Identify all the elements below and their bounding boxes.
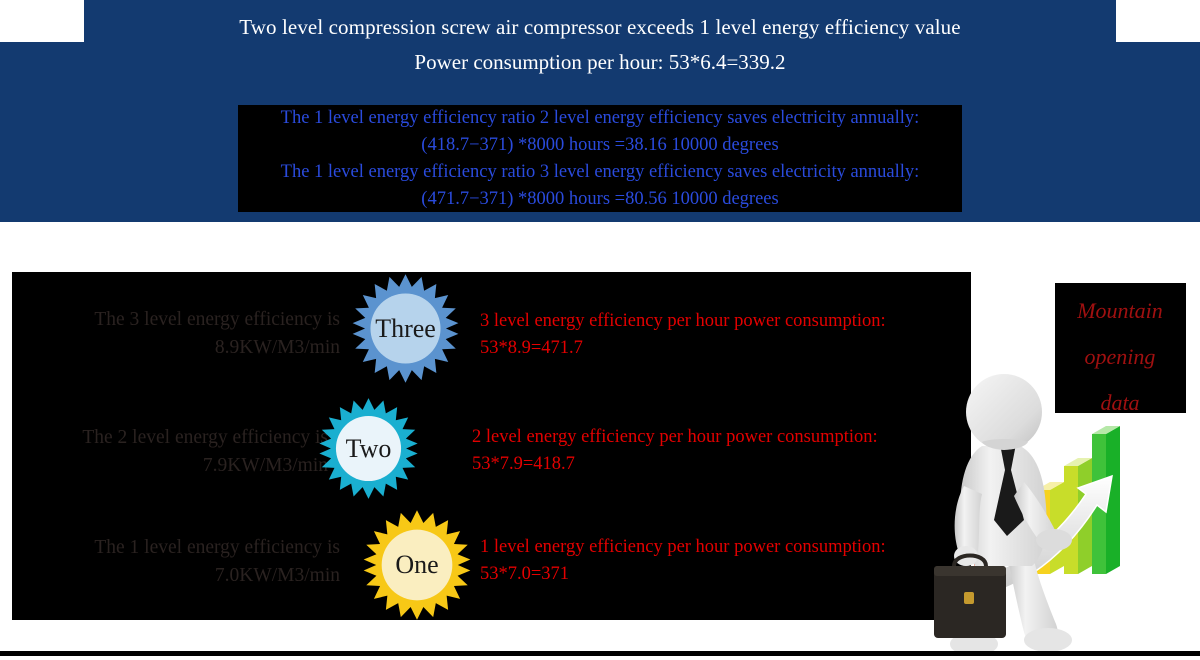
mountain-line-1: Mountain (1035, 288, 1200, 334)
efficiency-label-line2: 8.9KW/M3/min (0, 334, 340, 362)
consumption-text-level-two: 2 level energy efficiency per hour power… (472, 424, 878, 478)
bottom-rule (0, 651, 1200, 656)
consumption-line1: 2 level energy efficiency per hour power… (472, 424, 878, 451)
efficiency-label-line2: 7.9KW/M3/min (0, 452, 328, 480)
businessman-illustration (890, 370, 1140, 655)
sunburst-gear-icon (316, 396, 421, 501)
savings-line-4: (471.7−371) *8000 hours =80.56 10000 deg… (421, 186, 778, 213)
gear-badge-level-three[interactable]: Three (349, 272, 462, 385)
efficiency-label-level-one: The 1 level energy efficiency is 7.0KW/M… (0, 534, 340, 590)
consumption-line1: 3 level energy efficiency per hour power… (480, 308, 886, 335)
savings-line-3: The 1 level energy efficiency ratio 3 le… (281, 159, 920, 186)
sunburst-gear-icon (349, 272, 462, 385)
consumption-text-level-one: 1 level energy efficiency per hour power… (480, 534, 886, 588)
consumption-line1: 1 level energy efficiency per hour power… (480, 534, 886, 561)
gear-badge-level-one[interactable]: One (360, 508, 474, 622)
consumption-line2: 53*7.0=371 (480, 561, 886, 588)
efficiency-label-line2: 7.0KW/M3/min (0, 562, 340, 590)
savings-line-2: (418.7−371) *8000 hours =38.16 10000 deg… (421, 132, 778, 159)
consumption-line2: 53*7.9=418.7 (472, 451, 878, 478)
gear-badge-level-two[interactable]: Two (316, 396, 421, 501)
savings-line-1: The 1 level energy efficiency ratio 2 le… (281, 105, 920, 132)
sunburst-gear-icon (360, 508, 474, 622)
efficiency-label-line1: The 2 level energy efficiency is (0, 424, 328, 452)
head-icon (966, 374, 1042, 450)
annual-savings-box: The 1 level energy efficiency ratio 2 le… (238, 105, 962, 212)
efficiency-label-level-three: The 3 level energy efficiency is 8.9KW/M… (0, 306, 340, 362)
consumption-line2: 53*8.9=471.7 (480, 335, 886, 362)
efficiency-label-level-two: The 2 level energy efficiency is 7.9KW/M… (0, 424, 328, 480)
consumption-text-level-three: 3 level energy efficiency per hour power… (480, 308, 886, 362)
page-subtitle: Power consumption per hour: 53*6.4=339.2 (0, 47, 1200, 77)
efficiency-label-line1: The 3 level energy efficiency is (0, 306, 340, 334)
businessman-with-growth-chart-icon (890, 370, 1140, 655)
efficiency-label-line1: The 1 level energy efficiency is (0, 534, 340, 562)
page-title: Two level compression screw air compress… (0, 12, 1200, 42)
main-content-panel: The 3 level energy efficiency is 8.9KW/M… (12, 272, 971, 620)
